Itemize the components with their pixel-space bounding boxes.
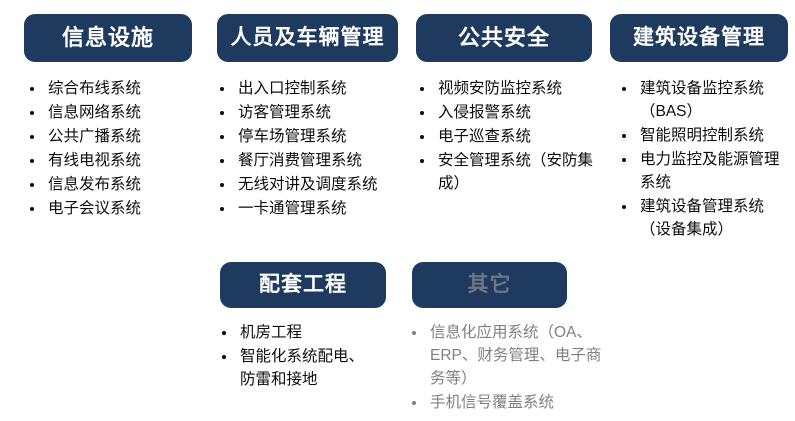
list-item[interactable]: 手机信号覆盖系统 [408,392,608,415]
card-title-building-equipment-management[interactable]: 建筑设备管理 [610,14,788,62]
card-personnel-vehicle-management[interactable]: 人员及车辆管理 出入口控制系统 访客管理系统 停车场管理系统 餐厅消费管理系统 … [208,14,404,222]
list-item[interactable]: 建筑设备管理系统（设备集成） [618,196,794,242]
list-item[interactable]: 一卡通管理系统 [216,198,404,221]
list-item[interactable]: 出入口控制系统 [216,78,404,101]
list-item[interactable]: 视频安防监控系统 [416,78,604,101]
card-item-list-other: 信息化应用系统（OA、ERP、财务管理、电子商务等） 手机信号覆盖系统 [408,322,608,415]
card-public-security[interactable]: 公共安全 视频安防监控系统 入侵报警系统 电子巡查系统 安全管理系统（安防集成） [408,14,604,197]
category-card-diagram: 信息设施 综合布线系统 信息网络系统 公共广播系统 有线电视系统 信息发布系统 … [0,0,795,421]
list-item[interactable]: 入侵报警系统 [416,102,604,125]
card-item-list-information-facilities: 综合布线系统 信息网络系统 公共广播系统 有线电视系统 信息发布系统 电子会议系… [26,78,200,221]
list-item[interactable]: 信息化应用系统（OA、ERP、财务管理、电子商务等） [408,322,608,391]
card-title-personnel-vehicle-management[interactable]: 人员及车辆管理 [217,14,398,62]
list-item[interactable]: 安全管理系统（安防集成） [416,150,604,196]
list-item[interactable]: 停车场管理系统 [216,126,404,149]
list-item[interactable]: 综合布线系统 [26,78,200,101]
list-item[interactable]: 电子巡查系统 [416,126,604,149]
card-information-facilities[interactable]: 信息设施 综合布线系统 信息网络系统 公共广播系统 有线电视系统 信息发布系统 … [8,14,200,222]
card-title-supporting-engineering[interactable]: 配套工程 [220,262,386,308]
card-other[interactable]: 其它 信息化应用系统（OA、ERP、财务管理、电子商务等） 手机信号覆盖系统 [404,262,614,416]
list-item[interactable]: 建筑设备监控系统（BAS） [618,78,794,124]
list-item[interactable]: 电力监控及能源管理系统 [618,149,794,195]
card-title-other[interactable]: 其它 [412,262,567,308]
list-item[interactable]: 信息发布系统 [26,174,200,197]
list-item[interactable]: 智能照明控制系统 [618,125,794,148]
list-item[interactable]: 访客管理系统 [216,102,404,125]
card-supporting-engineering[interactable]: 配套工程 机房工程 智能化系统配电、防雷和接地 [208,262,388,393]
card-item-list-building-equipment-management: 建筑设备监控系统（BAS） 智能照明控制系统 电力监控及能源管理系统 建筑设备管… [618,78,794,242]
card-title-public-security[interactable]: 公共安全 [416,14,592,62]
card-building-equipment-management[interactable]: 建筑设备管理 建筑设备监控系统（BAS） 智能照明控制系统 电力监控及能源管理系… [604,14,794,243]
list-item[interactable]: 公共广播系统 [26,126,200,149]
list-item[interactable]: 信息网络系统 [26,102,200,125]
list-item[interactable]: 电子会议系统 [26,198,200,221]
card-item-list-supporting-engineering: 机房工程 智能化系统配电、防雷和接地 [218,322,368,392]
list-item[interactable]: 机房工程 [218,322,368,345]
list-item[interactable]: 餐厅消费管理系统 [216,150,404,173]
card-item-list-public-security: 视频安防监控系统 入侵报警系统 电子巡查系统 安全管理系统（安防集成） [416,78,604,196]
card-item-list-personnel-vehicle-management: 出入口控制系统 访客管理系统 停车场管理系统 餐厅消费管理系统 无线对讲及调度系… [216,78,404,221]
list-item[interactable]: 有线电视系统 [26,150,200,173]
card-title-information-facilities[interactable]: 信息设施 [24,14,192,62]
list-item[interactable]: 无线对讲及调度系统 [216,174,404,197]
list-item[interactable]: 智能化系统配电、防雷和接地 [218,346,368,392]
